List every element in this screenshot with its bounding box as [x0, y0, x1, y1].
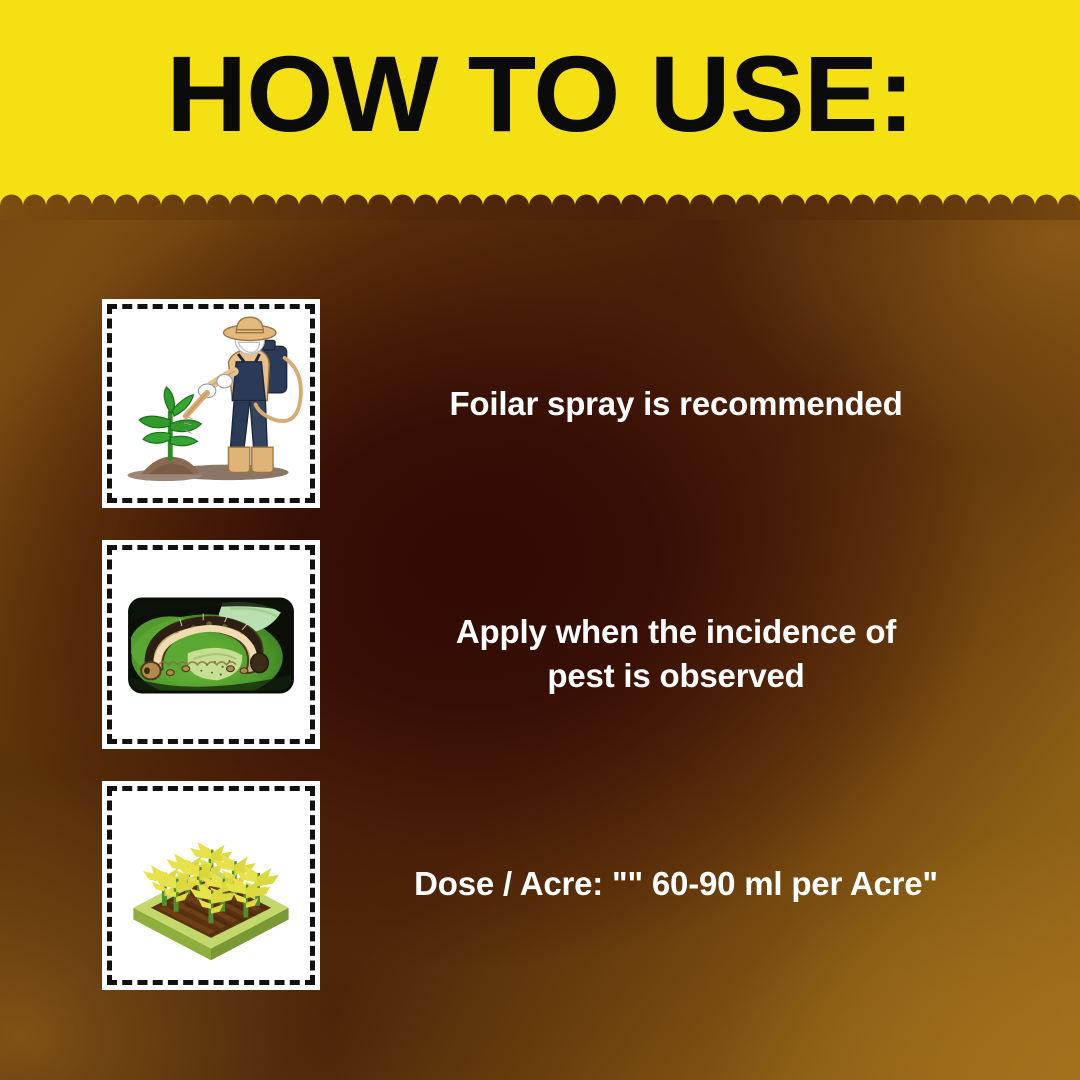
- page-title: HOW TO USE:: [0, 40, 1080, 148]
- header-banner: HOW TO USE:: [0, 0, 1080, 206]
- step-text-3: Dose / Acre: "" 60-90 ml per Acre": [356, 862, 996, 906]
- card-image-area: [114, 311, 308, 496]
- isometric-crop-field-illustration: [114, 793, 308, 978]
- card-image-area: [114, 552, 308, 737]
- step-image-card-2: [102, 540, 320, 749]
- step-text-1: Foilar spray is recommended: [356, 382, 996, 426]
- poster-root: HOW TO USE:: [0, 0, 1080, 1080]
- farmer-spraying-illustration: [114, 311, 308, 496]
- caterpillar-pest-photo: [114, 552, 308, 737]
- card-image-area: [114, 793, 308, 978]
- step-image-card-3: [102, 781, 320, 990]
- step-text-2: Apply when the incidence of pest is obse…: [356, 610, 996, 698]
- step-image-card-1: [102, 299, 320, 508]
